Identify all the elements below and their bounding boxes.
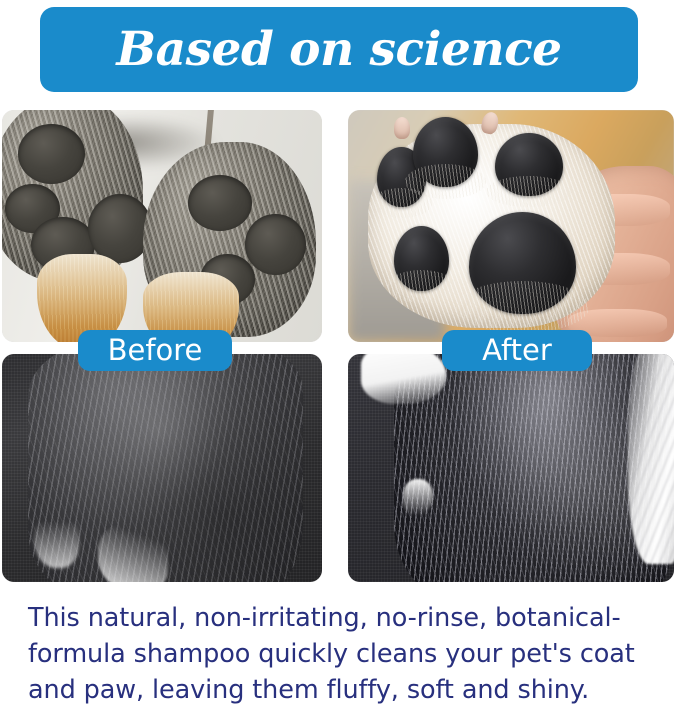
photo-before-paws-content bbox=[2, 110, 322, 342]
dirty-pad-left-1 bbox=[18, 124, 85, 184]
before-label-text: Before bbox=[108, 336, 203, 365]
product-description: This natural, non-irritating, no-rinse, … bbox=[28, 600, 658, 709]
photo-before-coat-content bbox=[2, 354, 322, 582]
photo-after-coat-content bbox=[348, 354, 674, 582]
tan-fur-left bbox=[37, 254, 127, 342]
coat-white-patch-top bbox=[361, 354, 446, 404]
coat-white-marking-2 bbox=[34, 509, 79, 568]
before-label-pill: Before bbox=[78, 330, 232, 371]
coat-white-stripe-right bbox=[628, 354, 674, 564]
header-banner: Based on science bbox=[40, 7, 638, 92]
photo-before-paws bbox=[2, 110, 322, 342]
photo-after-coat bbox=[348, 354, 674, 582]
claw-1 bbox=[394, 117, 410, 139]
paw-pad-toe-4 bbox=[394, 226, 449, 291]
page-title: Based on science bbox=[116, 26, 561, 73]
photo-after-paw-content bbox=[348, 110, 674, 342]
paw-pad-toe-2 bbox=[413, 117, 478, 187]
dirty-pad-right-2 bbox=[245, 214, 306, 274]
after-label-pill: After bbox=[442, 330, 592, 371]
paw-pad-metacarpal bbox=[469, 212, 577, 314]
photo-after-paw bbox=[348, 110, 674, 342]
photo-before-coat bbox=[2, 354, 322, 582]
dirty-pad-right-1 bbox=[188, 175, 252, 231]
paw-pad-toe-3 bbox=[495, 133, 563, 196]
after-label-text: After bbox=[482, 336, 552, 365]
